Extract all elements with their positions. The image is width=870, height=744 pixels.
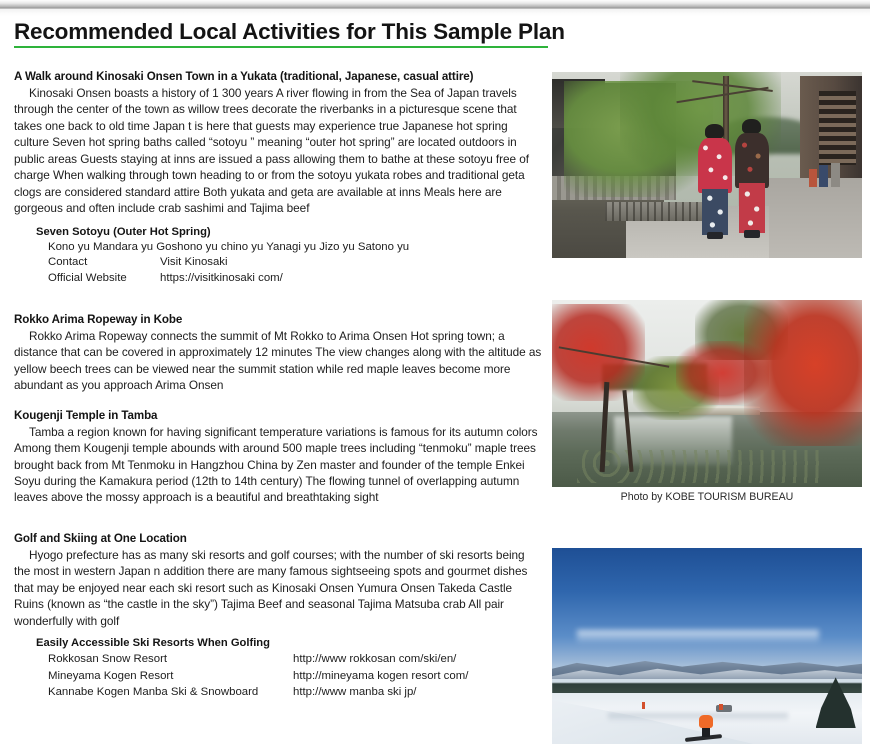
section-golf-and-skiing: Golf and Skiing at One Location Hyogo pr… [14, 532, 544, 701]
resort-url[interactable]: http://www manba ski jp/ [293, 684, 544, 701]
kougenji-autumn-pond-photo [552, 300, 862, 487]
section-paragraph: Rokko Arima Ropeway connects the summit … [14, 328, 544, 394]
website-label: Official Website [48, 271, 160, 287]
photo-artwork [552, 300, 862, 487]
website-row: Official Website https://visitkinosaki c… [48, 271, 544, 287]
scan-top-band [0, 0, 870, 9]
section-paragraph-text: Tamba a region known for having signific… [14, 425, 538, 505]
section-heading: Rokko Arima Ropeway in Kobe [14, 313, 544, 326]
photo-artwork [552, 72, 862, 258]
section-paragraph: Kinosaki Onsen boasts a history of 1 300… [14, 85, 544, 217]
section-kinosaki-walk: A Walk around Kinosaki Onsen Town in a Y… [14, 70, 544, 287]
section-heading: Golf and Skiing at One Location [14, 532, 544, 545]
section-paragraph: Hyogo prefecture has as many ski resorts… [14, 547, 544, 629]
contact-row: Contact Visit Kinosaki [48, 255, 544, 271]
photo-artwork [552, 548, 862, 744]
resort-name: Mineyama Kogen Resort [48, 668, 293, 685]
resort-url[interactable]: http://www rokkosan com/ski/en/ [293, 651, 544, 668]
subsection-heading: Easily Accessible Ski Resorts When Golfi… [36, 637, 544, 649]
section-kougenji-temple: Kougenji Temple in Tamba Tamba a region … [14, 409, 544, 506]
list-item: Mineyama Kogen Resort http://mineyama ko… [48, 668, 544, 685]
scan-top-band-fade [0, 9, 870, 16]
section-paragraph-text: Rokko Arima Ropeway connects the summit … [14, 329, 541, 392]
title-underline-rule [14, 46, 548, 48]
person-in-dark-yukata [735, 119, 769, 238]
photo-credit-caption: Photo by KOBE TOURISM BUREAU [552, 491, 862, 503]
skier-figure [699, 715, 713, 729]
section-spacer [14, 287, 544, 313]
page-title: Recommended Local Activities for This Sa… [14, 19, 550, 44]
section-rokko-arima-ropeway: Rokko Arima Ropeway in Kobe Rokko Arima … [14, 313, 544, 394]
document-page: Recommended Local Activities for This Sa… [0, 0, 870, 744]
resort-name: Rokkosan Snow Resort [48, 651, 293, 668]
ski-resorts-block: Easily Accessible Ski Resorts When Golfi… [36, 637, 544, 701]
section-paragraph: Tamba a region known for having signific… [14, 424, 544, 506]
list-item: Kannabe Kogen Manba Ski & Snowboard http… [48, 684, 544, 701]
list-item: Rokkosan Snow Resort http://www rokkosan… [48, 651, 544, 668]
bath-names-row: Kono yu Mandara yu Goshono yu chino yu Y… [48, 240, 544, 256]
bath-names: Kono yu Mandara yu Goshono yu chino yu Y… [48, 241, 409, 253]
subsection-heading: Seven Sotoyu (Outer Hot Spring) [36, 226, 544, 238]
sotoyu-info-list: Kono yu Mandara yu Goshono yu chino yu Y… [48, 240, 544, 287]
contact-value: Visit Kinosaki [160, 255, 544, 271]
seven-sotoyu-block: Seven Sotoyu (Outer Hot Spring) Kono yu … [36, 226, 544, 287]
page-header: Recommended Local Activities for This Sa… [14, 19, 550, 48]
article-body: A Walk around Kinosaki Onsen Town in a Y… [14, 70, 544, 701]
section-paragraph-text: Kinosaki Onsen boasts a history of 1 300… [14, 86, 529, 215]
kinosaki-yukata-street-photo [552, 72, 862, 258]
section-heading: Kougenji Temple in Tamba [14, 409, 544, 422]
section-spacer [14, 506, 544, 532]
section-heading: A Walk around Kinosaki Onsen Town in a Y… [14, 70, 544, 83]
section-spacer [14, 394, 544, 409]
resort-url[interactable]: http://mineyama kogen resort com/ [293, 668, 544, 685]
ski-slope-photo [552, 548, 862, 744]
resort-name: Kannabe Kogen Manba Ski & Snowboard [48, 684, 293, 701]
website-url[interactable]: https://visitkinosaki com/ [160, 271, 544, 287]
person-in-red-yukata [698, 124, 732, 239]
section-paragraph-text: Hyogo prefecture has as many ski resorts… [14, 548, 527, 628]
contact-label: Contact [48, 255, 160, 271]
ski-resorts-list: Rokkosan Snow Resort http://www rokkosan… [48, 651, 544, 701]
